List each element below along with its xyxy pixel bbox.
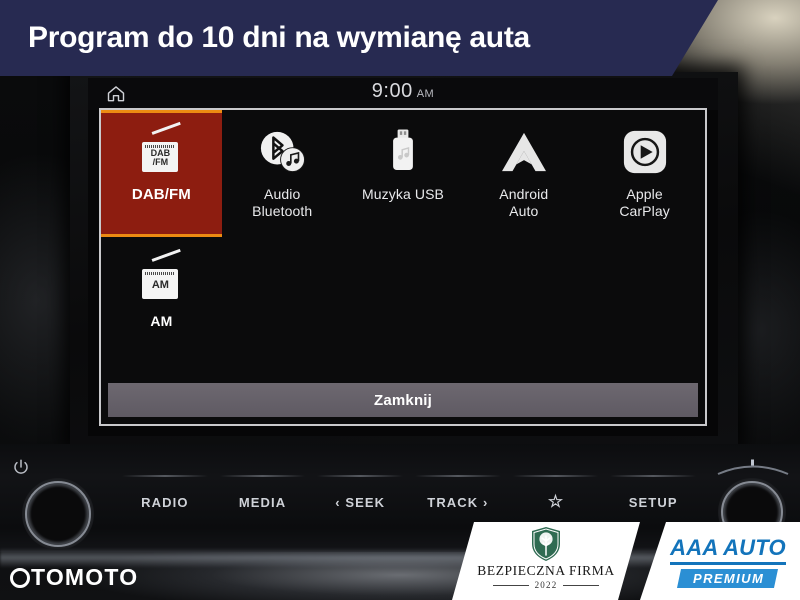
tile-audio-bluetooth[interactable]: Audio Bluetooth xyxy=(222,110,343,237)
promo-banner: Program do 10 dni na wymianę auta xyxy=(0,0,718,76)
close-button[interactable]: Zamknij xyxy=(108,383,698,417)
tile-dab-fm[interactable]: DAB /FM DAB/FM xyxy=(101,110,222,237)
hardware-button-row: RADIO MEDIA ‹ SEEK TRACK › ☆ SETUP xyxy=(116,482,702,522)
android-auto-icon xyxy=(499,126,549,178)
aaa-auto-badge: AAA AUTO PREMIUM xyxy=(640,522,800,600)
otomoto-watermark-text: TOMOTO xyxy=(31,564,138,590)
tile-label-android-auto: Android Auto xyxy=(499,186,548,219)
screenshot-root: Program do 10 dni na wymianę auta 9:00AM xyxy=(0,0,800,600)
tile-label-am: AM xyxy=(150,313,172,330)
radio-icon-text: DAB /FM xyxy=(142,149,178,167)
radio-am-icon-text: AM xyxy=(142,280,178,291)
clock-time: 9:00 xyxy=(372,80,413,102)
apple-carplay-icon xyxy=(622,126,668,178)
tile-muzyka-usb[interactable]: Muzyka USB xyxy=(343,110,464,237)
hw-button-favourite-star-icon[interactable]: ☆ xyxy=(507,482,605,522)
hw-button-setup[interactable]: SETUP xyxy=(604,482,702,522)
bluetooth-audio-icon xyxy=(257,126,307,178)
radio-dab-fm-icon: DAB /FM xyxy=(138,126,184,178)
volume-power-knob[interactable] xyxy=(22,478,94,550)
tile-label-apple-carplay: Apple CarPlay xyxy=(619,186,670,219)
tune-knob-scale xyxy=(714,458,792,476)
hw-button-radio[interactable]: RADIO xyxy=(116,482,214,522)
power-icon xyxy=(12,458,30,476)
tile-label-audio-bluetooth: Audio Bluetooth xyxy=(252,186,312,219)
radio-am-icon: AM xyxy=(138,253,184,305)
year-rule-right xyxy=(563,585,599,586)
source-select-popup: DAB /FM DAB/FM xyxy=(99,108,707,426)
screen-status-bar: 9:00AM xyxy=(88,78,718,110)
bezpieczna-firma-year-text: 2022 xyxy=(535,580,558,590)
clock-ampm: AM xyxy=(417,88,435,100)
hw-button-seek[interactable]: ‹ SEEK xyxy=(311,482,409,522)
clock: 9:00AM xyxy=(88,80,718,103)
tile-am[interactable]: AM AM xyxy=(101,237,222,364)
shield-tree-icon xyxy=(531,526,561,562)
tile-android-auto[interactable]: Android Auto xyxy=(463,110,584,237)
hw-button-media[interactable]: MEDIA xyxy=(214,482,312,522)
bezpieczna-firma-badge: BEZPIECZNA FIRMA 2022 xyxy=(452,522,640,600)
year-rule-left xyxy=(493,585,529,586)
tile-apple-carplay[interactable]: Apple CarPlay xyxy=(584,110,705,237)
otomoto-logo-ring xyxy=(10,568,30,588)
infotainment-screen: 9:00AM DAB /FM DAB/FM xyxy=(88,78,718,436)
aaa-auto-premium-text: PREMIUM xyxy=(693,571,764,586)
bezpieczna-firma-name: BEZPIECZNA FIRMA xyxy=(477,563,615,579)
close-button-label: Zamknij xyxy=(374,392,432,409)
aaa-auto-premium-tag: PREMIUM xyxy=(677,569,778,588)
bezpieczna-firma-year: 2022 xyxy=(493,580,600,590)
tile-label-muzyka-usb: Muzyka USB xyxy=(362,186,444,203)
otomoto-watermark: TOMOTO xyxy=(10,564,138,591)
aaa-auto-wordmark: AAA AUTO xyxy=(670,535,786,565)
tile-label-dab-fm: DAB/FM xyxy=(132,186,191,204)
source-tile-grid: DAB /FM DAB/FM xyxy=(101,110,705,364)
usb-music-icon xyxy=(385,126,421,178)
promo-banner-title: Program do 10 dni na wymianę auta xyxy=(28,21,530,55)
hw-button-track[interactable]: TRACK › xyxy=(409,482,507,522)
